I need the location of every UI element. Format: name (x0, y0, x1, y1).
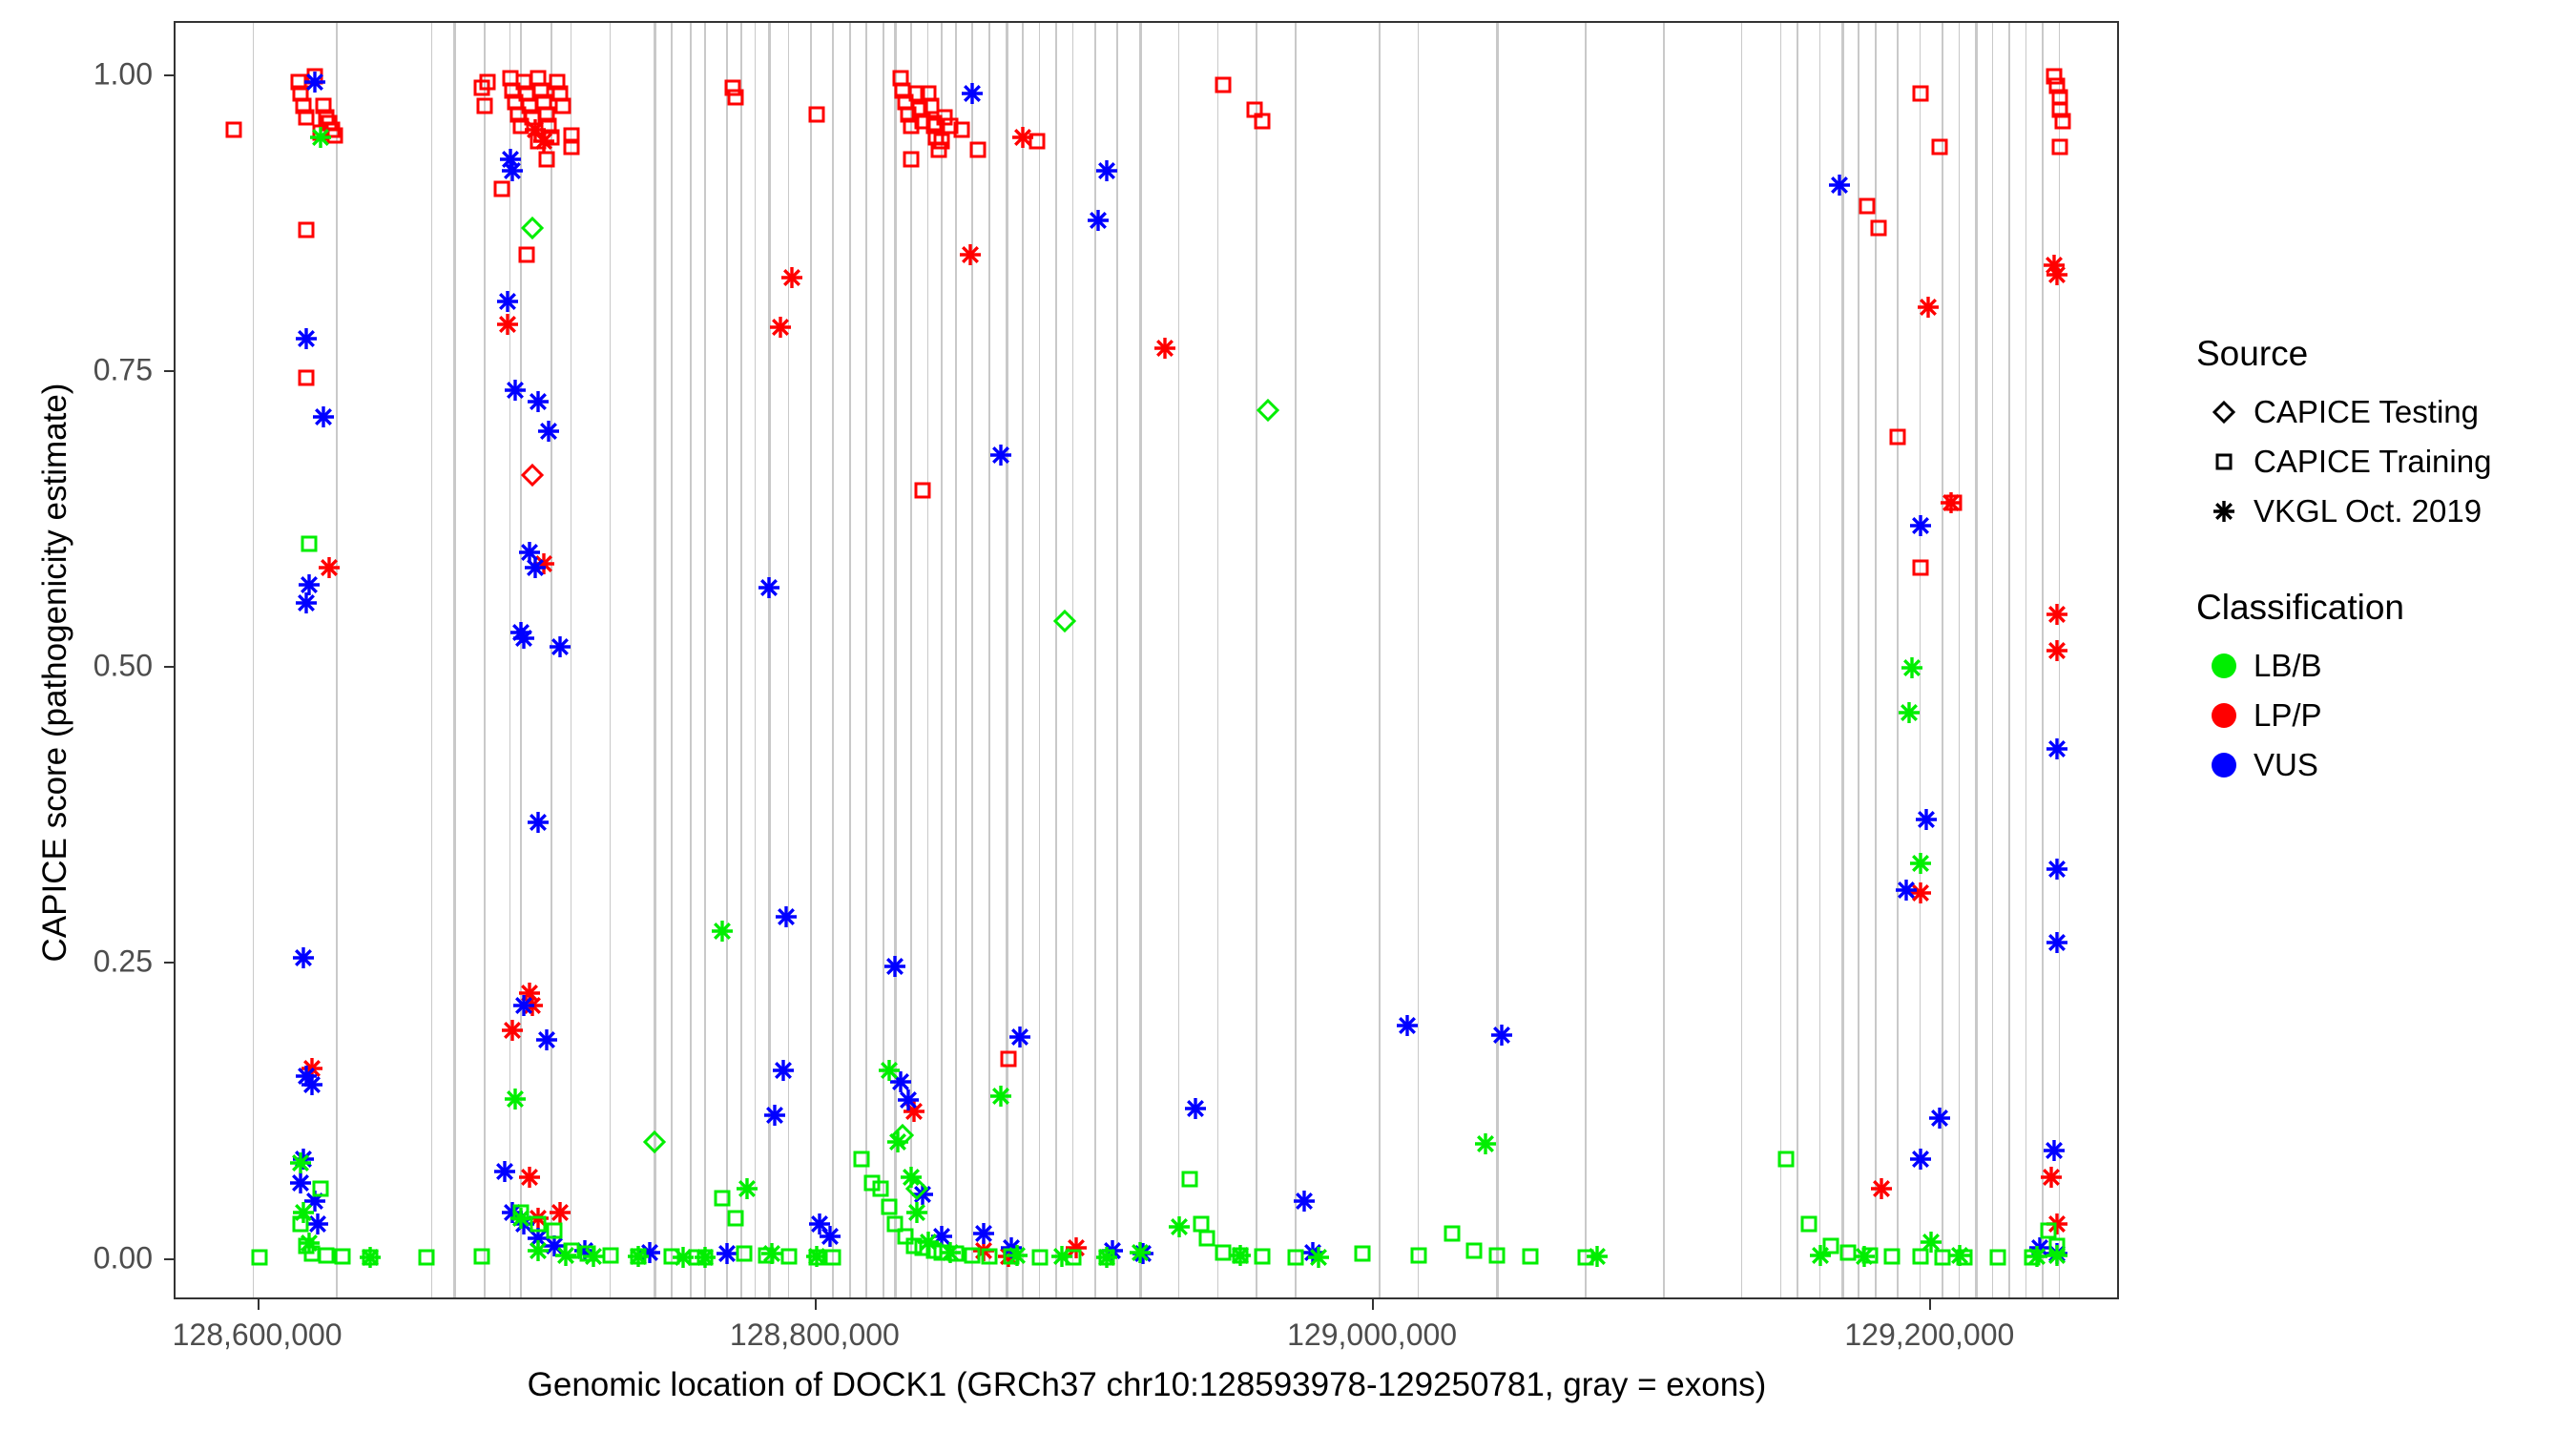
data-point (493, 287, 522, 316)
data-point (289, 944, 318, 972)
exon-line (1496, 23, 1499, 1297)
data-point (733, 1174, 761, 1203)
exon-line (1959, 23, 1961, 1297)
data-point (816, 1222, 844, 1251)
exon-line (1379, 23, 1381, 1297)
data-point (1925, 133, 1954, 161)
data-point (866, 1174, 895, 1203)
data-point (467, 73, 496, 102)
exon-line (1992, 23, 1994, 1297)
data-point (847, 1145, 876, 1173)
color-dot-icon (2194, 653, 2254, 678)
exon-line (1022, 23, 1024, 1297)
x-axis-tick (815, 1299, 817, 1310)
data-point (295, 529, 323, 558)
data-point (1023, 127, 1051, 156)
data-point (1151, 334, 1179, 363)
data-point (1209, 71, 1237, 99)
data-point (292, 1062, 321, 1090)
exon-line (1585, 23, 1587, 1297)
data-point (306, 118, 335, 147)
exon-line (1418, 23, 1420, 1297)
data-point (769, 1056, 798, 1085)
data-point (758, 1239, 786, 1268)
data-point (1925, 1104, 1954, 1132)
data-point (530, 88, 558, 116)
data-point (298, 1239, 326, 1268)
data-point (1084, 206, 1112, 235)
data-point (920, 112, 948, 140)
x-axis-tick (258, 1299, 260, 1310)
data-point (292, 216, 321, 244)
data-point (1864, 214, 1893, 242)
data-point (303, 1210, 332, 1238)
exon-line (1920, 23, 1922, 1297)
data-point (1898, 653, 1926, 682)
exon-line (788, 23, 790, 1297)
y-axis-tick-label: 0.00 (0, 1240, 153, 1275)
data-point (1298, 1238, 1327, 1267)
exon-line (1178, 23, 1180, 1297)
data-point (1209, 1238, 1237, 1267)
y-axis-tick (164, 74, 174, 76)
data-point (301, 1187, 329, 1215)
exon-line (610, 23, 612, 1297)
data-point (551, 1241, 580, 1270)
data-point (2043, 928, 2071, 957)
data-point (524, 808, 552, 837)
data-point (498, 1198, 527, 1227)
data-point (289, 92, 318, 120)
data-point (1175, 1165, 1204, 1193)
legend-label: LP/P (2254, 697, 2322, 734)
legend-label: CAPICE Testing (2254, 394, 2479, 430)
data-point (920, 109, 948, 137)
data-point (2040, 251, 2068, 280)
data-point (493, 310, 522, 339)
data-point (708, 917, 737, 945)
data-point (2043, 600, 2071, 629)
legend-label: LB/B (2254, 648, 2322, 684)
exon-line (1072, 23, 1074, 1297)
exon-line (883, 23, 884, 1297)
data-point (883, 1128, 912, 1156)
exon-line (1975, 23, 1978, 1297)
legend-title-source: Source (2196, 334, 2576, 374)
data-point (524, 1236, 552, 1265)
exon-line (671, 23, 673, 1297)
data-point (356, 1243, 384, 1272)
data-point (530, 127, 558, 156)
exon-line (1217, 23, 1219, 1297)
data-point (1867, 1174, 1896, 1203)
data-point (2043, 855, 2071, 883)
data-point (1912, 805, 1941, 834)
data-point (956, 240, 985, 269)
data-point (289, 1145, 318, 1173)
exon-line (910, 23, 912, 1297)
x-axis-title: Genomic location of DOCK1 (GRCh37 chr10:… (174, 1366, 2120, 1404)
exon-line (484, 23, 486, 1297)
data-point (802, 100, 831, 129)
data-point (412, 1243, 441, 1272)
data-point (524, 64, 552, 93)
data-point (1583, 1242, 1611, 1271)
data-point (908, 107, 937, 135)
exon-line (1116, 23, 1118, 1297)
data-point (315, 553, 343, 582)
exon-line (1942, 23, 1943, 1297)
data-point (534, 417, 563, 446)
data-point (315, 109, 343, 137)
data-point (321, 121, 349, 150)
legend-item-source-1[interactable]: CAPICE Training (2194, 437, 2576, 487)
data-point (1187, 1210, 1215, 1238)
y-axis-tick (164, 370, 174, 372)
legend-item-classification-0[interactable]: LB/B (2194, 641, 2576, 691)
exon-line (1663, 23, 1665, 1297)
data-point (532, 100, 561, 129)
data-point (498, 1016, 527, 1045)
data-point (498, 156, 527, 185)
data-point (1438, 1219, 1466, 1248)
exon-line (1780, 23, 1782, 1297)
exon-line (509, 23, 511, 1297)
data-point (318, 115, 346, 144)
data-point (524, 387, 552, 416)
data-point (512, 240, 541, 269)
exon-line (690, 23, 692, 1297)
data-point (509, 1210, 538, 1238)
data-point (752, 1241, 780, 1270)
data-point (309, 92, 338, 120)
data-point (292, 363, 321, 392)
legend-label: VKGL Oct. 2019 (2254, 493, 2482, 529)
data-point (356, 1243, 384, 1272)
data-point (2048, 107, 2077, 135)
data-point (669, 1243, 697, 1272)
legend-item-classification-1[interactable]: LP/P (2194, 691, 2576, 740)
data-point (2023, 1242, 2051, 1271)
legend-item-source-0[interactable]: CAPICE Testing (2194, 387, 2576, 437)
data-point (286, 1149, 315, 1177)
data-point (1062, 1234, 1091, 1262)
exon-line (849, 23, 851, 1297)
data-point (708, 1184, 737, 1213)
x-axis-tick (1929, 1299, 1931, 1310)
data-point (2043, 636, 2071, 665)
x-axis-tick-label: 129,000,000 (1287, 1317, 1457, 1353)
data-point (2043, 1241, 2071, 1270)
data-point (509, 991, 538, 1020)
exon-line (1741, 23, 1743, 1297)
exon-line (971, 23, 973, 1297)
data-point (286, 1210, 315, 1238)
data-point (994, 1045, 1023, 1073)
exon-line (1841, 23, 1844, 1297)
data-point (219, 115, 248, 144)
data-point (900, 1232, 928, 1260)
data-point (301, 62, 329, 91)
exon-line (865, 23, 867, 1297)
exon-line (2025, 23, 2027, 1297)
data-point (292, 589, 321, 617)
data-point (894, 100, 923, 129)
data-point (1940, 488, 1968, 517)
data-point (1878, 1242, 1906, 1271)
exon-line (740, 23, 742, 1297)
data-point (2025, 1234, 2054, 1262)
data-point (802, 1243, 831, 1272)
plot-panel (174, 21, 2119, 1299)
data-point (778, 263, 806, 292)
exon-line (1875, 23, 1877, 1297)
data-point (521, 553, 550, 582)
chart-root: CAPICE score (pathogenicity estimate) Ge… (0, 0, 2576, 1431)
data-point (2043, 260, 2071, 289)
data-point (524, 1210, 552, 1238)
exon-line (755, 23, 757, 1297)
exon-line (453, 23, 456, 1297)
exon-line (1006, 23, 1008, 1297)
data-point (987, 441, 1015, 469)
exon-line (1256, 23, 1257, 1297)
data-point (1348, 1239, 1377, 1268)
data-point (1226, 1241, 1255, 1270)
data-point (894, 1086, 923, 1114)
y-axis-tick-label: 1.00 (0, 56, 153, 92)
exon-line (1039, 23, 1041, 1297)
data-point (760, 1101, 789, 1130)
data-point (908, 1234, 937, 1262)
data-point (509, 624, 538, 653)
data-point (1460, 1236, 1488, 1265)
data-point (309, 403, 338, 431)
exon-line (927, 23, 929, 1297)
data-point (2043, 72, 2071, 100)
data-point (501, 88, 530, 116)
exon-line (571, 23, 572, 1297)
x-axis-tick (1372, 1299, 1374, 1310)
x-axis-tick-label: 128,800,000 (730, 1317, 900, 1353)
data-point (1487, 1021, 1516, 1049)
data-point (292, 103, 321, 132)
data-point (284, 68, 313, 96)
y-axis-tick-label: 0.75 (0, 353, 153, 388)
data-point (573, 1239, 602, 1268)
legend-item-classification-2[interactable]: VUS (2194, 740, 2576, 790)
data-point (2040, 1136, 2068, 1165)
data-point (987, 1082, 1015, 1110)
exon-line (1858, 23, 1859, 1297)
exon-line (2008, 23, 2010, 1297)
data-point (2043, 1239, 2071, 1268)
data-point (498, 76, 527, 105)
data-point (1825, 171, 1854, 199)
data-point (682, 1243, 711, 1272)
data-point (1856, 1241, 1884, 1270)
legend-spacer (2194, 536, 2576, 588)
data-point (1181, 1094, 1210, 1123)
data-point (306, 1174, 335, 1203)
exon-line (520, 23, 522, 1297)
data-point (530, 550, 558, 578)
data-point (540, 1216, 569, 1245)
data-point (301, 68, 329, 96)
legend-group-classification: LB/BLP/PVUS (2194, 641, 2576, 790)
exon-line (955, 23, 957, 1297)
exon-line (832, 23, 834, 1297)
data-point (286, 79, 315, 108)
y-axis-tick (164, 666, 174, 668)
data-point (908, 476, 937, 505)
data-point (875, 1192, 904, 1221)
data-point (543, 68, 571, 96)
data-point (245, 1243, 274, 1272)
color-dot-icon (2194, 703, 2254, 728)
data-point (298, 1070, 326, 1099)
exon-line (1139, 23, 1142, 1297)
data-point (295, 1229, 323, 1257)
data-point (624, 1242, 653, 1271)
exon-line (551, 23, 552, 1297)
data-point (518, 214, 547, 242)
data-point (1129, 1239, 1157, 1268)
data-point (1516, 1242, 1545, 1271)
data-point (490, 1157, 519, 1186)
data-point (534, 112, 563, 140)
exon-line (941, 23, 943, 1297)
data-point (512, 79, 541, 108)
data-point (969, 1236, 998, 1265)
data-point (1226, 1241, 1255, 1270)
legend-title-classification: Classification (2196, 588, 2576, 628)
data-point (624, 1242, 653, 1271)
data-point (524, 1224, 552, 1253)
data-point (532, 1026, 561, 1054)
exon-line (988, 23, 990, 1297)
exon-line (2042, 23, 2044, 1297)
data-point (295, 570, 323, 599)
legend-label: CAPICE Training (2254, 444, 2491, 480)
data-point (518, 103, 547, 132)
exon-line (1819, 23, 1821, 1297)
data-point (289, 1198, 318, 1227)
y-axis-tick-label: 0.25 (0, 944, 153, 980)
data-point (635, 1238, 664, 1267)
color-dot-icon (2194, 753, 2254, 778)
x-axis-tick-label: 128,600,000 (173, 1317, 343, 1353)
data-point (518, 991, 547, 1020)
data-point (488, 175, 516, 203)
data-point (292, 1232, 321, 1260)
data-point (969, 1219, 998, 1248)
data-point (306, 123, 335, 152)
diamond-open-icon (2194, 398, 2254, 426)
exon-line (704, 23, 706, 1297)
legend-label: VUS (2254, 747, 2318, 783)
legend-group-source: CAPICE TestingCAPICE TrainingVKGL Oct. 2… (2194, 387, 2576, 536)
data-point (718, 73, 747, 102)
data-point (532, 145, 561, 174)
data-point (549, 92, 577, 120)
exon-line (654, 23, 656, 1297)
data-point (521, 115, 550, 144)
data-point (571, 1236, 599, 1265)
data-point (900, 1097, 928, 1126)
data-point (501, 376, 530, 404)
data-point (524, 1204, 552, 1233)
exon-line (1094, 23, 1096, 1297)
data-point (2043, 1210, 2071, 1238)
data-point (292, 324, 321, 353)
exon-line (768, 23, 771, 1297)
y-axis-tick-label: 0.50 (0, 649, 153, 684)
exon-line (1055, 23, 1057, 1297)
data-point (473, 68, 502, 96)
data-point (286, 1169, 315, 1197)
data-point (328, 1242, 357, 1271)
data-point (802, 1242, 831, 1271)
data-point (467, 1242, 496, 1271)
data-point (518, 461, 547, 489)
data-point (908, 1180, 937, 1209)
data-point (1006, 1023, 1034, 1051)
data-point (924, 135, 953, 164)
legend: Source CAPICE TestingCAPICE TrainingVKGL… (2194, 334, 2576, 790)
data-point (875, 1056, 904, 1085)
data-point (540, 1232, 569, 1260)
exon-line (1797, 23, 1798, 1297)
data-point (501, 1085, 530, 1113)
data-point (1240, 95, 1269, 124)
data-point (920, 1236, 948, 1265)
data-point (1248, 107, 1277, 135)
data-point (1248, 1242, 1277, 1271)
data-point (772, 902, 800, 931)
exon-line (431, 23, 433, 1297)
exon-line (1295, 23, 1297, 1297)
exon-line (1897, 23, 1899, 1297)
data-point (1304, 1243, 1333, 1272)
y-axis-tick (164, 962, 174, 964)
asterisk-icon (2194, 497, 2254, 526)
data-point (994, 1242, 1023, 1271)
exon-line (336, 23, 338, 1297)
square-open-icon (2194, 447, 2254, 476)
data-point (509, 68, 538, 96)
data-point (298, 1054, 326, 1083)
data-point (2043, 735, 2071, 763)
legend-item-source-2[interactable]: VKGL Oct. 2019 (2194, 487, 2576, 536)
exon-line (726, 23, 728, 1297)
exon-line (2059, 23, 2061, 1297)
x-axis-tick-label: 129,200,000 (1844, 1317, 2014, 1353)
data-point (579, 1242, 608, 1271)
data-point (524, 127, 552, 156)
plot-area (176, 23, 2117, 1297)
data-point (2040, 62, 2068, 91)
exon-line (894, 23, 897, 1297)
data-point (1254, 396, 1282, 425)
data-point (1098, 1236, 1127, 1265)
exon-line (810, 23, 812, 1297)
exon-line (253, 23, 255, 1297)
data-point (2043, 1232, 2071, 1260)
y-axis-tick (164, 1258, 174, 1260)
